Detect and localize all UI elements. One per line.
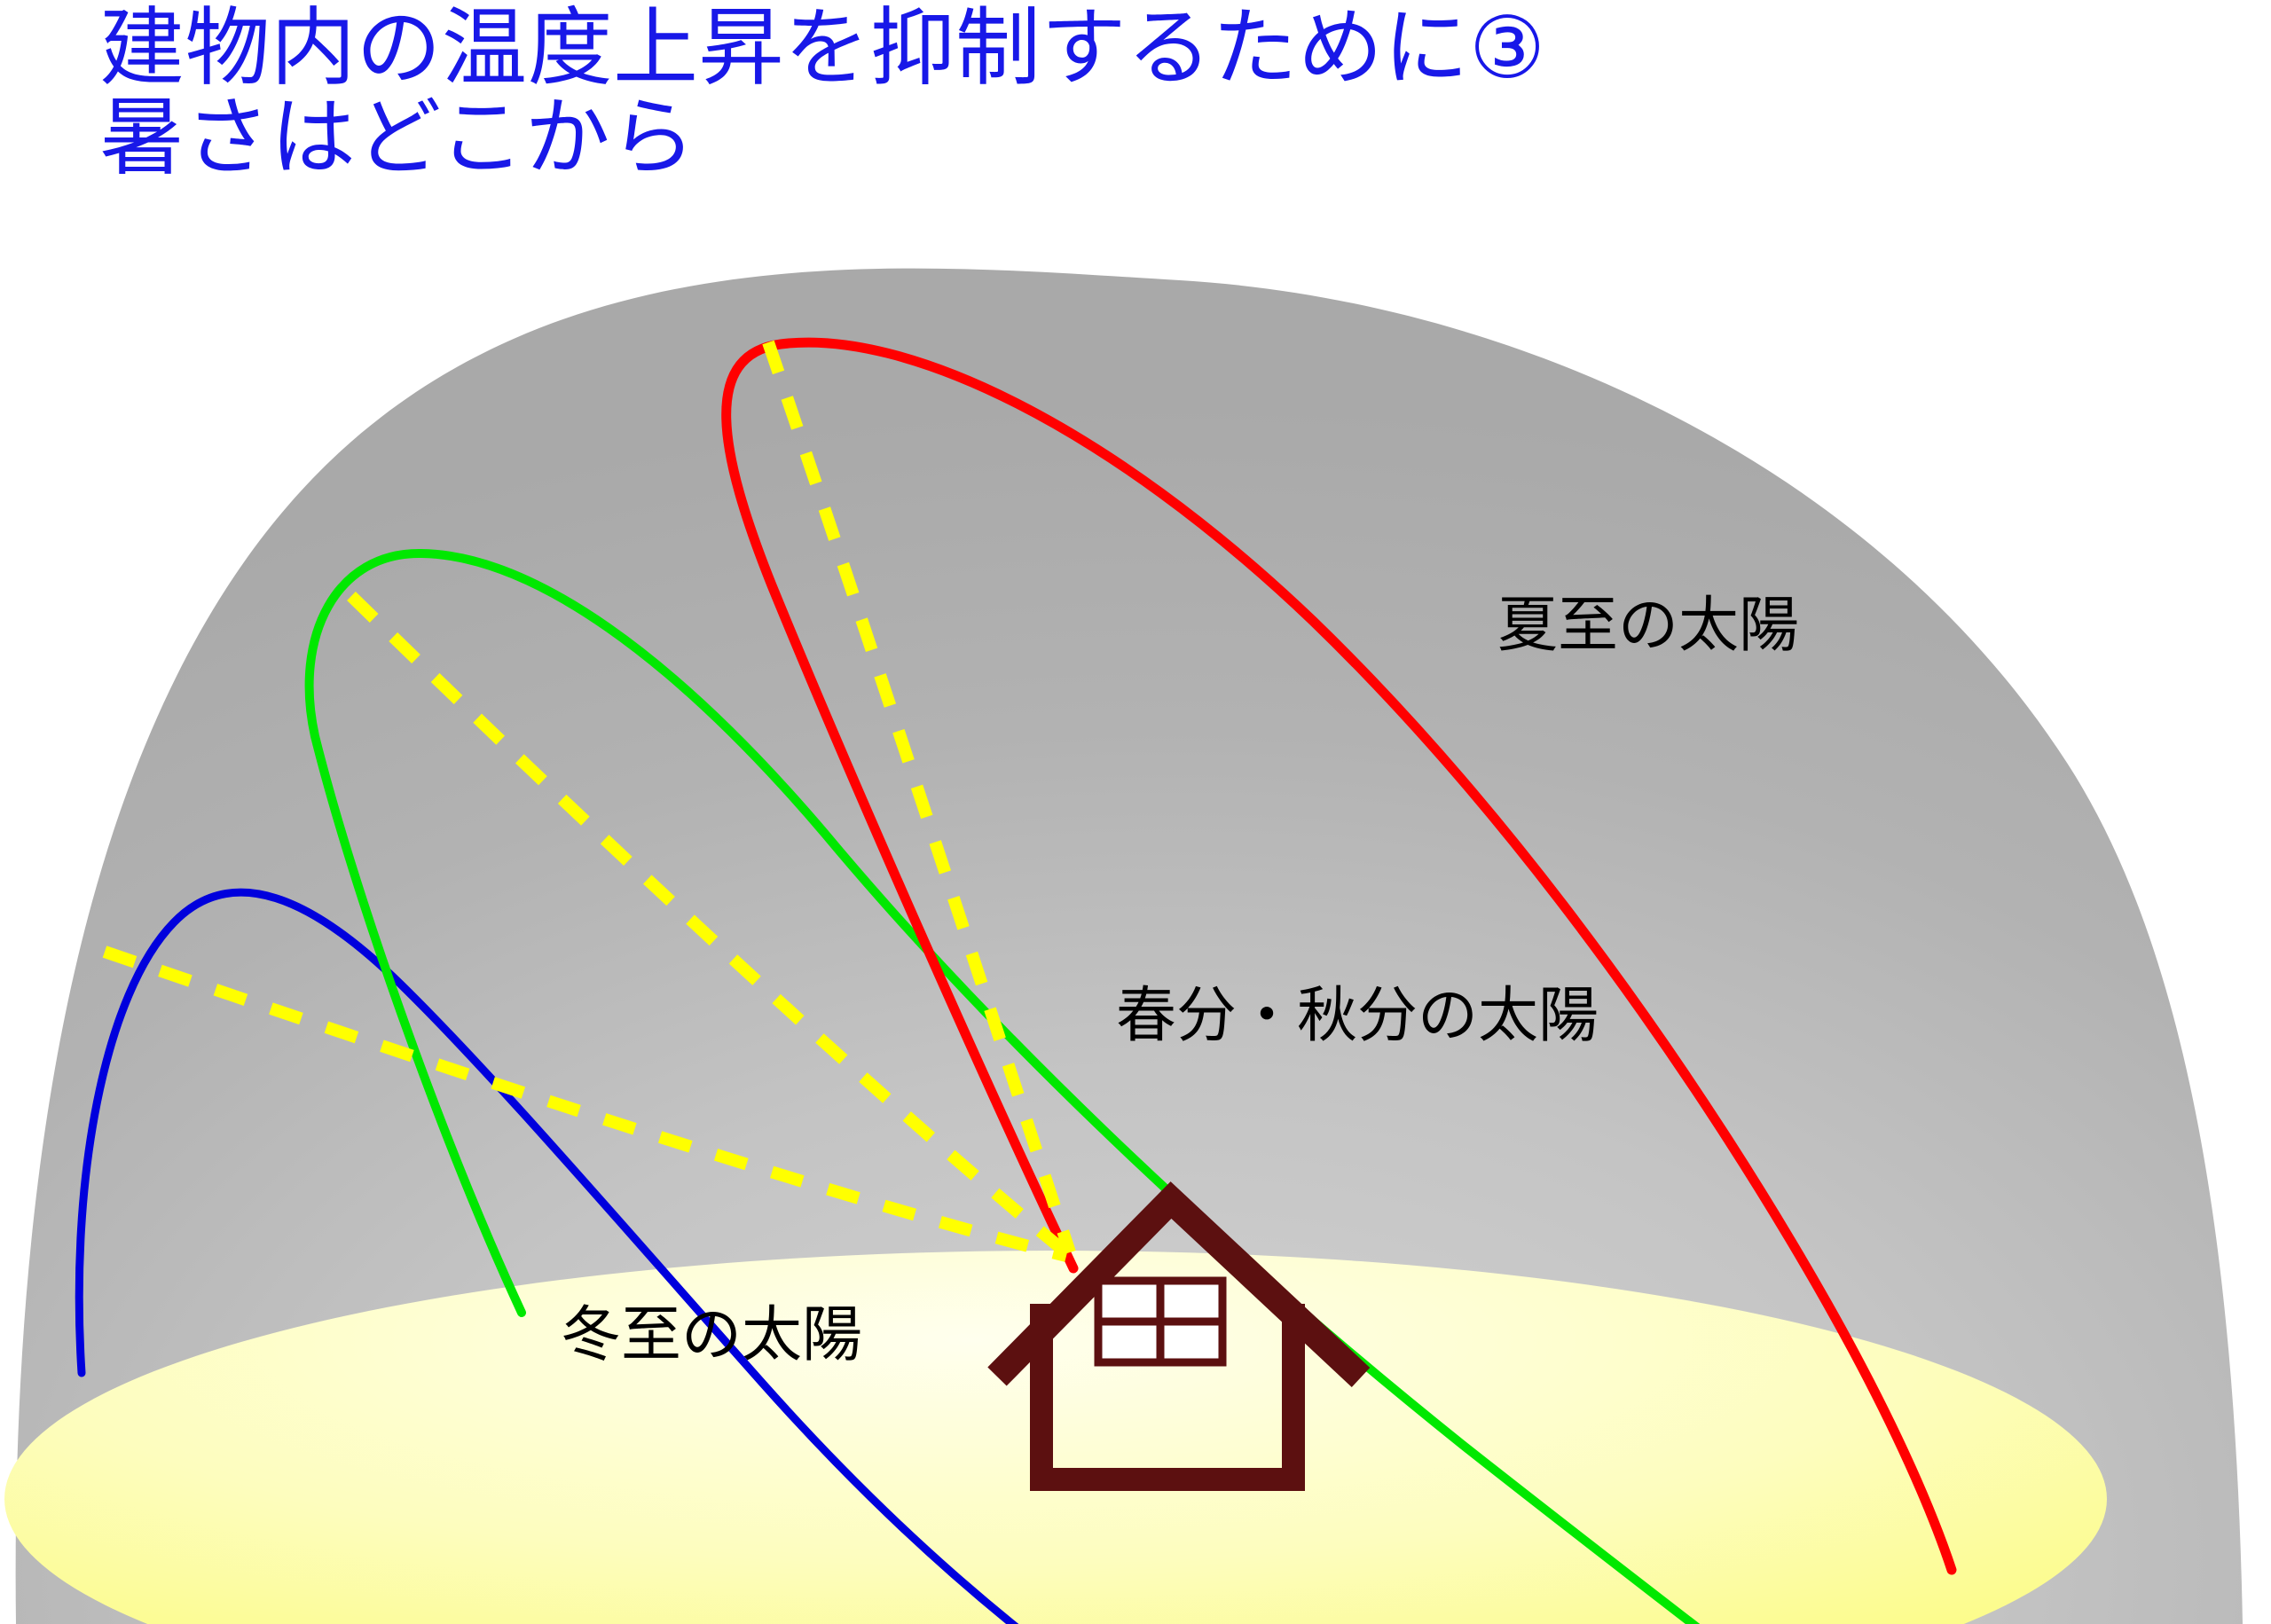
slide-canvas: 建物内の温度上昇を抑制するために③ 暑さはどこから 夏至の太陽 春分・秋分の太陽…	[0, 0, 2271, 1624]
page-title-line-1: 建物内の温度上昇を抑制するために③	[99, 4, 1546, 93]
label-summer-solstice-sun: 夏至の太陽	[1497, 596, 1799, 656]
label-winter-solstice-sun: 冬至の太陽	[561, 1306, 862, 1366]
label-equinox-sun: 春分・秋分の太陽	[1116, 986, 1599, 1047]
page-title-line-2: 暑さはどこから	[99, 93, 1546, 183]
sun-path-diagram	[0, 0, 2271, 1624]
page-title: 建物内の温度上昇を抑制するために③ 暑さはどこから	[99, 4, 1546, 183]
